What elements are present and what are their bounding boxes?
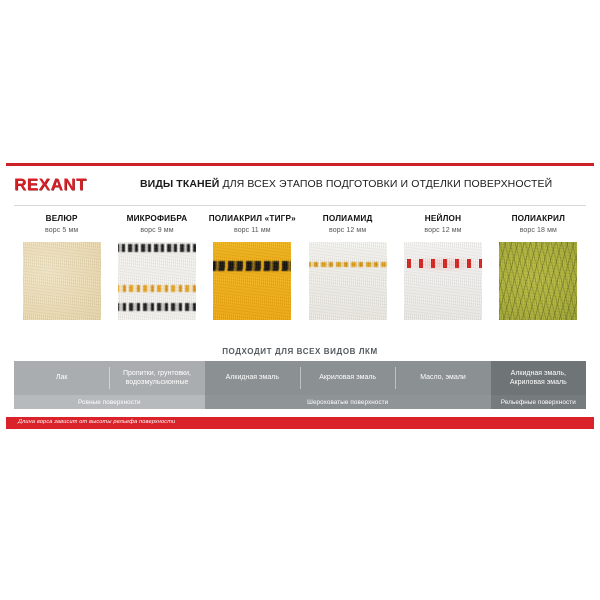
surface-cell-rough: Шероховатые поверхности [205, 395, 491, 409]
surface-cell-smooth: Ровные поверхности [14, 395, 205, 409]
lkm-section-title: ПОДХОДИТ ДЛЯ ВСЕХ ВИДОВ ЛКМ [0, 347, 600, 356]
swatch-stripe-black [213, 261, 291, 271]
fabric-pile: ворс 12 мм [424, 227, 461, 234]
paint-cell-oil: Масло, эмали [395, 361, 490, 395]
fabric-name: ПОЛИАКРИЛ [512, 215, 565, 223]
nylon-swatch [404, 242, 482, 320]
swatch-band-black-bottom [118, 303, 196, 311]
fabric-column-polyacryl: ПОЛИАКРИЛ ворс 18 мм [491, 215, 586, 335]
rexant-logo: REXANT [14, 175, 87, 195]
fabric-column-nylon: НЕЙЛОН ворс 12 мм [395, 215, 490, 335]
paint-cell-alkyd-acrylic: Алкидная эмаль, Акриловая эмаль [491, 361, 586, 395]
fabric-name: ВЕЛЮР [46, 215, 78, 223]
header: REXANT ВИДЫ ТКАНЕЙ ДЛЯ ВСЕХ ЭТАПОВ ПОДГО… [0, 173, 600, 197]
fabric-pile: ворс 11 мм [234, 227, 271, 234]
header-divider [14, 205, 586, 206]
fabric-pile: ворс 12 мм [329, 227, 366, 234]
paint-cell-alkyd: Алкидная эмаль [205, 361, 300, 395]
paint-cell-lak: Лак [14, 361, 109, 395]
page-title-strong: ВИДЫ ТКАНЕЙ [140, 178, 219, 190]
page-title-rest: ДЛЯ ВСЕХ ЭТАПОВ ПОДГОТОВКИ И ОТДЕЛКИ ПОВ… [222, 178, 552, 190]
swatch-flecks [499, 242, 577, 320]
fabric-column-tiger: ПОЛИАКРИЛ «ТИГР» ворс 11 мм [205, 215, 300, 335]
surface-row: Ровные поверхности Шероховатые поверхнос… [14, 395, 586, 409]
fabric-column-microfiber: МИКРОФИБРА ворс 9 мм [109, 215, 204, 335]
fabric-columns: ВЕЛЮР ворс 5 мм МИКРОФИБРА ворс 9 мм ПОЛ… [14, 215, 586, 335]
tiger-swatch [213, 242, 291, 320]
paint-cell-acrylic: Акриловая эмаль [300, 361, 395, 395]
polyacryl-swatch [499, 242, 577, 320]
fabric-pile: ворс 5 мм [45, 227, 78, 234]
fabric-column-polyamide: ПОЛИАМИД ворс 12 мм [300, 215, 395, 335]
fabric-name: НЕЙЛОН [425, 215, 462, 223]
page-title: ВИДЫ ТКАНЕЙ ДЛЯ ВСЕХ ЭТАПОВ ПОДГОТОВКИ И… [140, 178, 592, 190]
polyamide-swatch [309, 242, 387, 320]
fabric-pile: ворс 18 мм [520, 227, 557, 234]
paint-compatibility-table: Лак Пропитки, грунтовки, водоэмульсионны… [14, 361, 586, 409]
paint-row: Лак Пропитки, грунтовки, водоэмульсионны… [14, 361, 586, 395]
fabric-column-velour: ВЕЛЮР ворс 5 мм [14, 215, 109, 335]
footnote-text: Длина ворса зависит от высоты рельефа по… [18, 419, 175, 425]
infographic-panel: REXANT ВИДЫ ТКАНЕЙ ДЛЯ ВСЕХ ЭТАПОВ ПОДГО… [0, 155, 600, 445]
fabric-name: ПОЛИАМИД [323, 215, 373, 223]
paint-cell-impregnations: Пропитки, грунтовки, водоэмульсионные [109, 361, 204, 395]
footnote-bar: Длина ворса зависит от высоты рельефа по… [6, 417, 594, 429]
fabric-name: МИКРОФИБРА [127, 215, 188, 223]
swatch-stripe-orange [309, 262, 387, 267]
swatch-band-black-top [118, 244, 196, 253]
swatch-band-orange [118, 285, 196, 292]
velour-swatch [23, 242, 101, 320]
swatch-dashes-red [404, 259, 482, 268]
top-red-rule [6, 163, 594, 166]
fabric-pile: ворс 9 мм [140, 227, 173, 234]
fabric-name: ПОЛИАКРИЛ «ТИГР» [209, 215, 296, 223]
microfiber-swatch [118, 242, 196, 320]
surface-cell-relief: Рельефные поверхности [491, 395, 586, 409]
